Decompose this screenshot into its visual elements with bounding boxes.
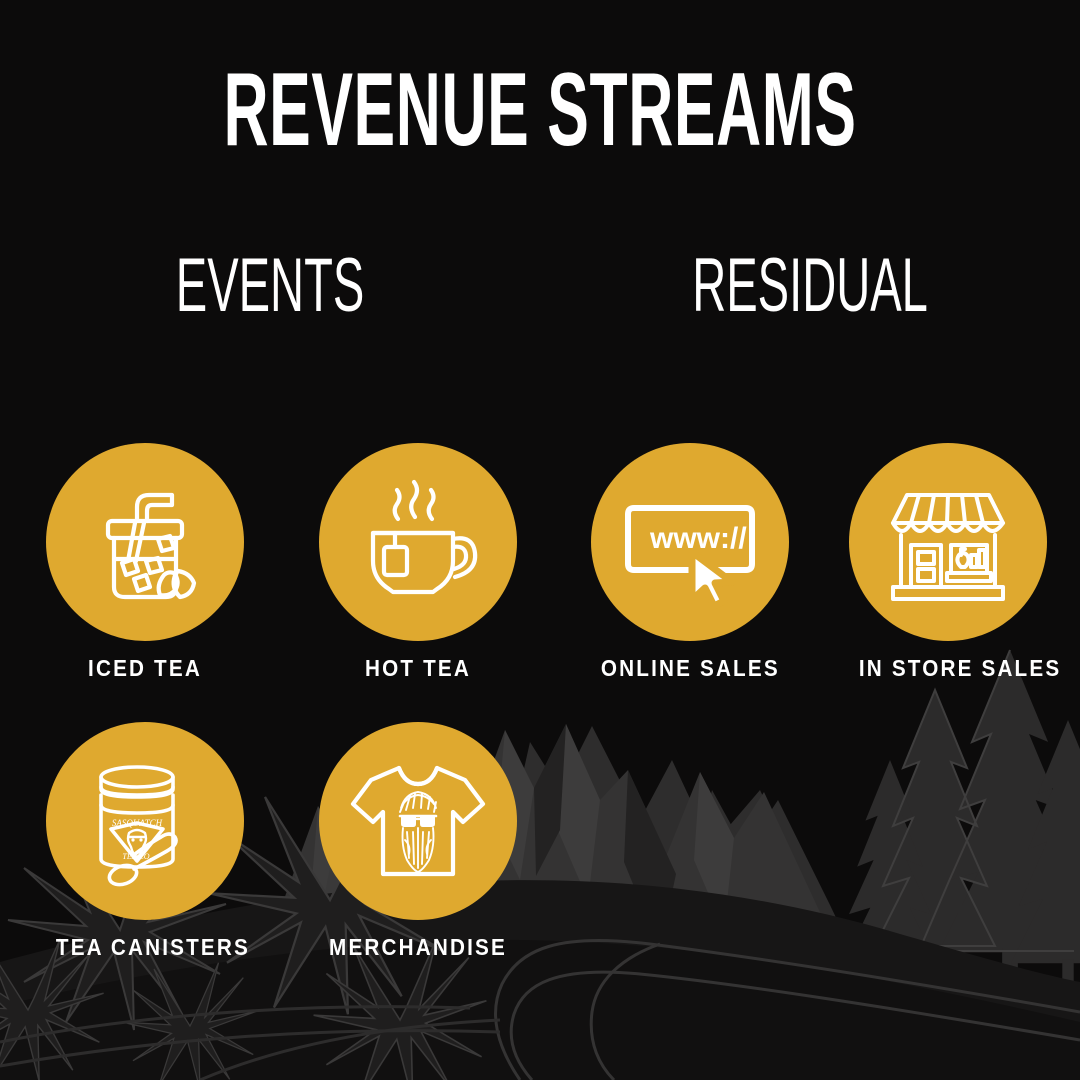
sasquatch-face-graphic	[400, 792, 436, 872]
icon-circle-tea-canisters[interactable]: SASQUATCH TEA CO.	[46, 722, 244, 920]
hot-teacup-icon	[351, 475, 485, 609]
revenue-item-label: ICED TEA	[56, 655, 234, 682]
browser-www-icon: www://	[620, 472, 760, 612]
section-heading-residual-label: RESIDUAL	[692, 248, 928, 324]
revenue-item-label: IN STORE SALES	[859, 655, 1037, 682]
revenue-item-label: TEA CANISTERS	[56, 934, 234, 961]
revenue-item-hot-tea[interactable]: HOT TEA	[319, 443, 517, 682]
section-heading-events-label: EVENTS	[176, 248, 365, 324]
section-heading-events: EVENTS	[0, 248, 540, 324]
iced-tea-glass-icon	[80, 477, 210, 607]
browser-url-text: www://	[649, 522, 747, 555]
revenue-item-merchandise[interactable]: MERCHANDISE	[319, 722, 517, 961]
icon-circle-merchandise[interactable]	[319, 722, 517, 920]
canister-brand-top-text: SASQUATCH	[112, 818, 163, 828]
revenue-item-label: MERCHANDISE	[329, 934, 507, 961]
page-title: REVENUE STREAMS	[216, 58, 864, 162]
icon-circle-online-sales[interactable]: www://	[591, 443, 789, 641]
icon-circle-hot-tea[interactable]	[319, 443, 517, 641]
section-heading-residual: RESIDUAL	[540, 248, 1080, 324]
storefront-icon	[881, 475, 1015, 609]
revenue-item-label: ONLINE SALES	[601, 655, 779, 682]
revenue-item-iced-tea[interactable]: ICED TEA	[46, 443, 244, 682]
pine-outlines	[875, 650, 1074, 951]
cursor-arrow-icon	[692, 552, 732, 606]
tshirt-icon	[343, 746, 493, 896]
pine-forest	[844, 650, 1080, 1003]
mountain-range-back	[470, 726, 880, 1010]
tea-canister-icon: SASQUATCH TEA CO.	[75, 751, 215, 891]
revenue-item-in-store-sales[interactable]: IN STORE SALES	[849, 443, 1047, 682]
revenue-item-online-sales[interactable]: www:// ONLINE SALES	[591, 443, 789, 682]
icon-circle-in-store-sales[interactable]	[849, 443, 1047, 641]
canister-brand-bottom-text: TEA CO.	[122, 852, 151, 861]
river-lines	[496, 940, 1080, 1080]
poster-canvas: REVENUE STREAMS EVENTS RESIDUAL	[0, 0, 1080, 1080]
revenue-item-label: HOT TEA	[329, 655, 507, 682]
revenue-item-tea-canisters[interactable]: SASQUATCH TEA CO. TEA CANISTERS	[46, 722, 244, 961]
icon-circle-iced-tea[interactable]	[46, 443, 244, 641]
mountain-shadows	[534, 724, 812, 1020]
